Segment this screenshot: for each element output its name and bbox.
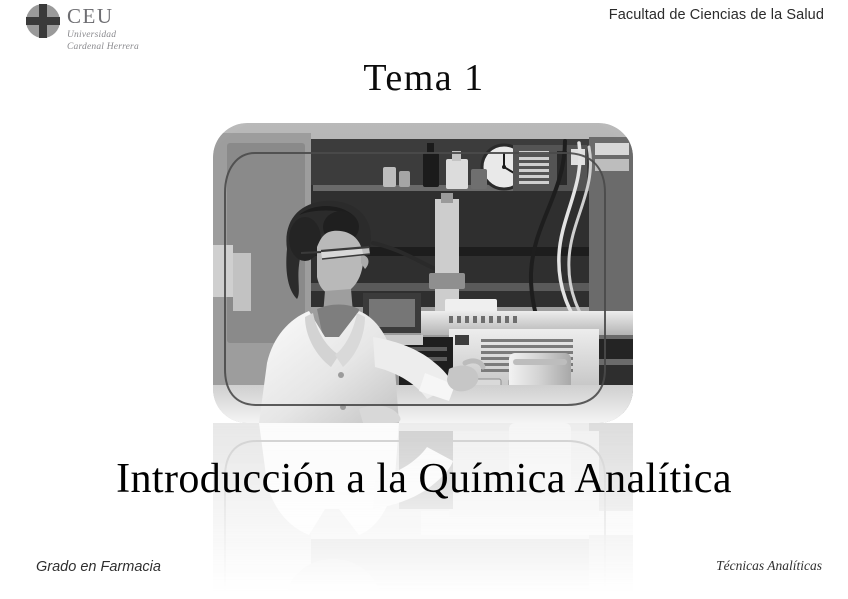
- topic-label: Tema 1: [0, 59, 848, 97]
- photo-reflection-inner: [213, 423, 633, 593]
- lab-photo: [213, 123, 633, 423]
- faculty-name: Facultad de Ciencias de la Salud: [609, 7, 824, 23]
- lab-photo-artwork: [213, 123, 633, 423]
- footer-degree: Grado en Farmacia: [36, 559, 161, 575]
- ceu-cross-logo-icon: [26, 4, 60, 38]
- logo-subtitle-line1: Universidad: [67, 30, 139, 42]
- logo-subtitle: Universidad Cardenal Herrera: [67, 30, 139, 54]
- logo-cross-vertical: [39, 4, 47, 38]
- lab-photo-reflection-artwork: [213, 423, 633, 593]
- page-title: Introducción a la Química Analítica: [0, 455, 848, 503]
- presentation-slide: CEU Universidad Cardenal Herrera Faculta…: [0, 0, 848, 599]
- photo-reflection: [213, 423, 633, 593]
- ceu-logo: CEU Universidad Cardenal Herrera: [26, 4, 139, 54]
- logo-wordmark: CEU Universidad Cardenal Herrera: [67, 4, 139, 54]
- logo-acronym: CEU: [67, 6, 139, 27]
- footer-course: Técnicas Analíticas: [716, 558, 822, 574]
- logo-subtitle-line2: Cardenal Herrera: [67, 42, 139, 54]
- photo-stage: [213, 123, 633, 423]
